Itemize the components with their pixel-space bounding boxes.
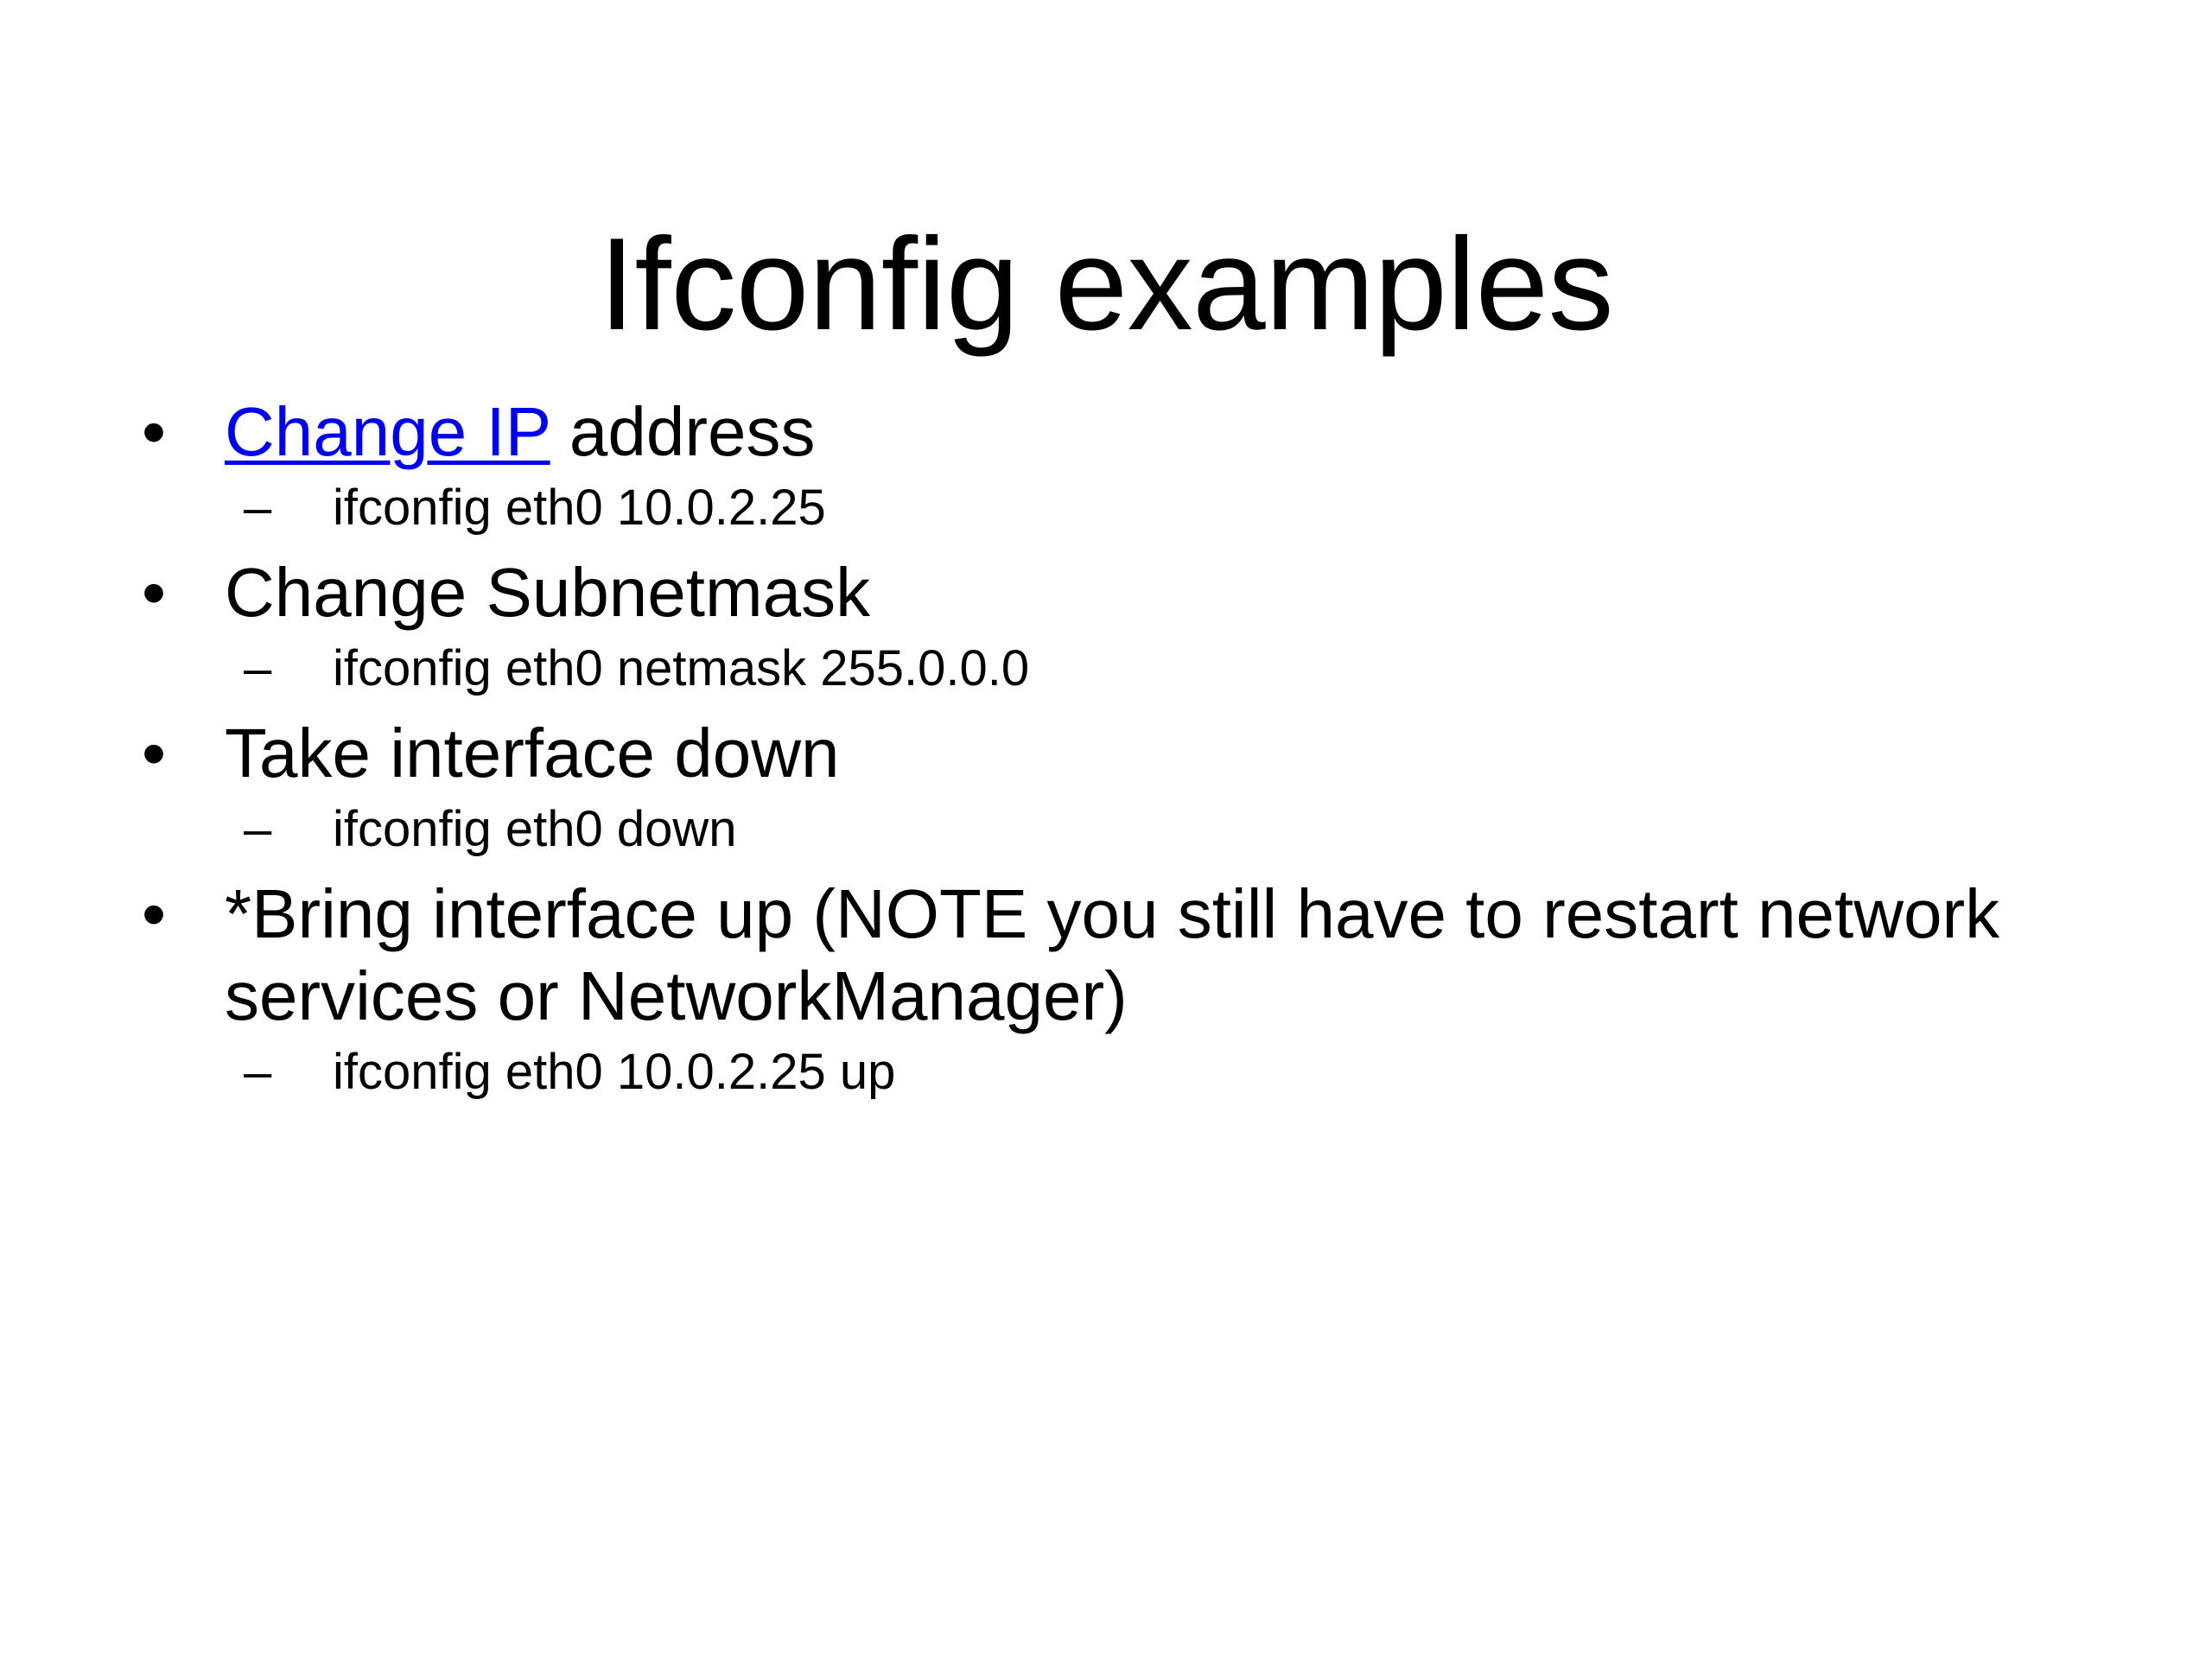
sub-bullet-item: – ifconfig eth0 10.0.2.25: [225, 478, 2100, 539]
sub-bullet-text: ifconfig eth0 down: [333, 799, 2100, 861]
sub-bullet-item: – ifconfig eth0 netmask 255.0.0.0: [225, 639, 2100, 700]
sub-bullet-list: – ifconfig eth0 10.0.2.25 up: [225, 1042, 2100, 1103]
dash-marker-icon: –: [244, 799, 304, 861]
sub-bullet-list: – ifconfig eth0 netmask 255.0.0.0: [225, 639, 2100, 700]
sub-bullet-text: ifconfig eth0 netmask 255.0.0.0: [333, 639, 2100, 700]
dash-marker-icon: –: [244, 478, 304, 539]
bullet-marker-icon: •: [142, 391, 185, 473]
dash-marker-icon: –: [244, 639, 304, 700]
slide-title: Ifconfig examples: [0, 216, 2212, 354]
bullet-item-bring-interface-up: • *Bring interface up (NOTE you still ha…: [130, 873, 2100, 1103]
bullet-marker-icon: •: [142, 873, 185, 955]
bullet-item-change-subnetmask: • Change Subnetmask – ifconfig eth0 netm…: [130, 551, 2100, 700]
bullet-item-take-interface-down: • Take interface down – ifconfig eth0 do…: [130, 712, 2100, 861]
sub-bullet-list: – ifconfig eth0 10.0.2.25: [225, 478, 2100, 539]
bullet-list: • Change IP address – ifconfig eth0 10.0…: [130, 391, 2100, 1103]
bullet-marker-icon: •: [142, 551, 185, 633]
bullet-text: Change IP address: [225, 391, 2100, 473]
sub-bullet-list: – ifconfig eth0 down: [225, 799, 2100, 861]
sub-bullet-item: – ifconfig eth0 down: [225, 799, 2100, 861]
sub-bullet-text: ifconfig eth0 10.0.2.25: [333, 478, 2100, 539]
sub-bullet-text: ifconfig eth0 10.0.2.25 up: [333, 1042, 2100, 1103]
bullet-text: Take interface down: [225, 712, 2100, 794]
bullet-text: *Bring interface up (NOTE you still have…: [225, 873, 2100, 1037]
bullet-marker-icon: •: [142, 712, 185, 794]
bullet-text: Change Subnetmask: [225, 551, 2100, 633]
change-ip-hyperlink[interactable]: Change IP: [225, 393, 550, 470]
presentation-slide: Ifconfig examples • Change IP address – …: [0, 0, 2212, 1659]
sub-bullet-item: – ifconfig eth0 10.0.2.25 up: [225, 1042, 2100, 1103]
bullet-text-tail: address: [550, 393, 816, 470]
bullet-item-change-ip: • Change IP address – ifconfig eth0 10.0…: [130, 391, 2100, 539]
slide-body: • Change IP address – ifconfig eth0 10.0…: [130, 391, 2100, 1116]
dash-marker-icon: –: [244, 1042, 304, 1103]
